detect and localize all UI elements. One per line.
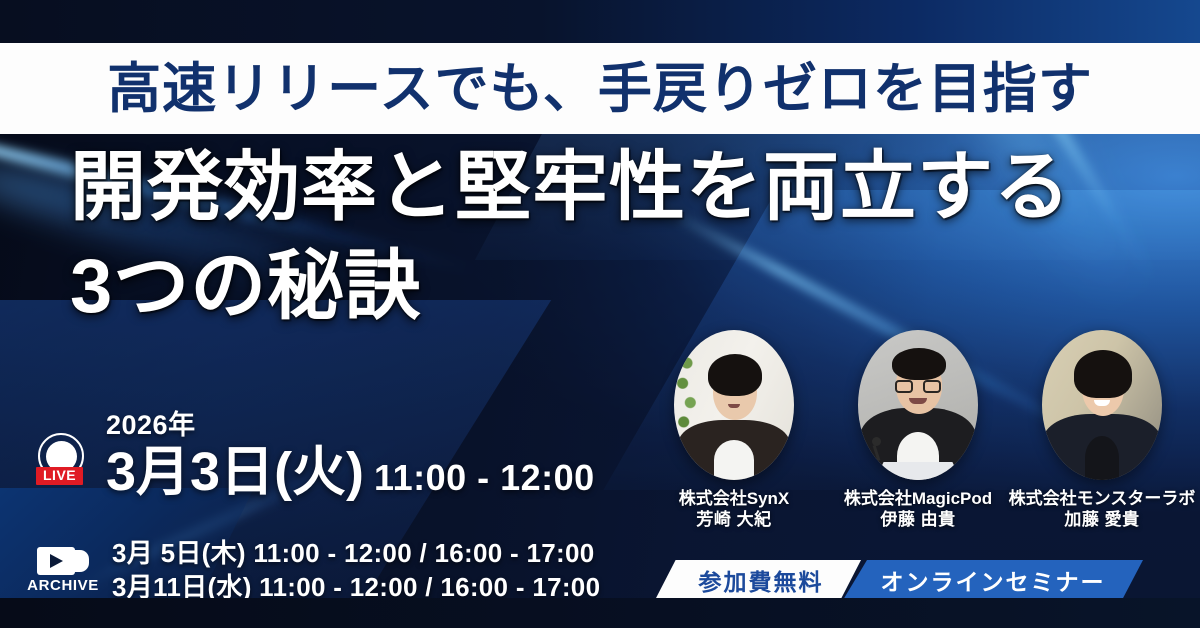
live-date-row: 3月3日(火) 11:00 - 12:00 — [106, 445, 595, 499]
live-badge-label: LIVE — [36, 467, 83, 485]
speaker-card: 株式会社モンスターラボ 加藤 愛貴 — [1016, 330, 1188, 530]
main-title: 開発効率と堅牢性を両立する 3つの秘訣 — [70, 142, 1160, 333]
photo-hair — [708, 354, 762, 396]
archive-line-1: 3月 5日(木) 11:00 - 12:00 / 16:00 - 17:00 — [112, 536, 600, 570]
speaker-name-plate: 株式会社SynX 芳崎 大紀 — [679, 489, 790, 530]
online-seminar-badge: オンラインセミナー — [843, 560, 1143, 600]
photo-shirt — [714, 440, 754, 480]
top-headline-text: 高速リリースでも、手戻りゼロを目指す — [107, 62, 1093, 116]
speaker-list: 株式会社SynX 芳崎 大紀 株式会社MagicPod 伊藤 由貴 — [648, 330, 1188, 530]
photo-podium — [875, 462, 961, 480]
photo-microphone — [872, 437, 881, 446]
speaker-company: 株式会社MagicPod — [844, 489, 992, 510]
title-line-2: 3つの秘訣 — [70, 241, 1160, 334]
top-dark-bar — [0, 0, 1200, 43]
photo-glasses — [895, 380, 941, 393]
seminar-banner: 高速リリースでも、手戻りゼロを目指す 開発効率と堅牢性を両立する 3つの秘訣 L… — [0, 0, 1200, 628]
speaker-company: 株式会社SynX — [679, 489, 790, 510]
live-year: 2026年 — [106, 412, 595, 439]
badge-group: 参加費無料 オンラインセミナー — [655, 560, 1143, 600]
archive-label: ARCHIVE — [27, 577, 99, 594]
camera-lens-icon — [73, 550, 89, 572]
speaker-photo — [858, 330, 978, 480]
photo-hair — [892, 348, 946, 380]
live-icon: LIVE — [30, 431, 92, 497]
live-date-wrap: 2026年 3月3日(火) 11:00 - 12:00 — [106, 412, 595, 499]
photo-hair — [1074, 350, 1132, 398]
title-line-1: 開発効率と堅牢性を両立する — [70, 142, 1160, 235]
live-schedule-block: LIVE 2026年 3月3日(火) 11:00 - 12:00 — [30, 412, 595, 499]
speaker-name: 芳崎 大紀 — [679, 510, 790, 531]
bottom-dark-bar — [0, 598, 1200, 628]
free-admission-badge: 参加費無料 — [655, 560, 861, 600]
speaker-card: 株式会社SynX 芳崎 大紀 — [648, 330, 820, 530]
speaker-photo — [1042, 330, 1162, 480]
speaker-card: 株式会社MagicPod 伊藤 由貴 — [832, 330, 1004, 530]
archive-date-lines: 3月 5日(木) 11:00 - 12:00 / 16:00 - 17:00 3… — [112, 536, 600, 605]
speaker-name: 加藤 愛貴 — [1009, 510, 1196, 531]
speaker-photo — [674, 330, 794, 480]
live-date: 3月3日(火) — [106, 445, 364, 499]
archive-schedule-block: ARCHIVE 3月 5日(木) 11:00 - 12:00 / 16:00 -… — [22, 536, 600, 605]
video-camera-icon — [37, 547, 89, 575]
speaker-company: 株式会社モンスターラボ — [1009, 489, 1196, 510]
live-time: 11:00 - 12:00 — [374, 460, 595, 496]
speaker-name-plate: 株式会社モンスターラボ 加藤 愛貴 — [1009, 489, 1196, 530]
play-triangle-icon — [50, 554, 63, 568]
speaker-name: 伊藤 由貴 — [844, 510, 992, 531]
archive-icon: ARCHIVE — [22, 547, 104, 594]
speaker-name-plate: 株式会社MagicPod 伊藤 由貴 — [844, 489, 992, 530]
top-headline-band: 高速リリースでも、手戻りゼロを目指す — [0, 43, 1200, 134]
photo-shirt — [1085, 436, 1119, 480]
